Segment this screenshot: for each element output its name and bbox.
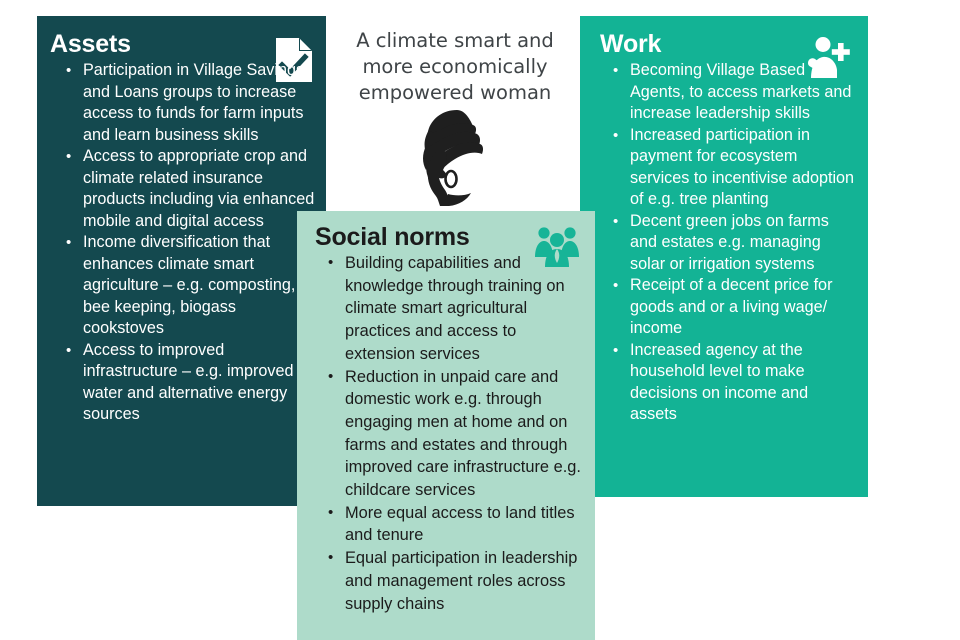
- list-item: Equal participation in leadership and ma…: [327, 547, 583, 615]
- list-item: Decent green jobs on farms and estates e…: [612, 211, 858, 276]
- list-item: Increased participation in payment for e…: [612, 125, 858, 211]
- panel-work-bullets: Becoming Village Based Agents, to access…: [580, 58, 868, 426]
- panel-assets: Assets Participation in Village Savings …: [37, 16, 326, 506]
- woman-head-wrap-silhouette-icon: [407, 108, 503, 206]
- panel-work: Work Becoming Village Based Agents, to a…: [580, 16, 868, 497]
- panel-assets-bullets: Participation in Village Savings and Loa…: [37, 58, 326, 426]
- list-item: Increased agency at the household level …: [612, 340, 858, 426]
- list-item: Access to appropriate crop and climate r…: [65, 146, 318, 232]
- list-item: Access to improved infrastructure – e.g.…: [65, 340, 318, 426]
- list-item: Participation in Village Savings and Loa…: [65, 60, 318, 146]
- infographic-canvas: A climate smart and more economically em…: [0, 0, 960, 640]
- panel-social-norms: Social norms Building capabilities and k…: [297, 211, 595, 640]
- panel-social-norms-bullets: Building capabilities and knowledge thro…: [297, 251, 595, 615]
- center-caption: A climate smart and more economically em…: [330, 16, 580, 106]
- center-column: A climate smart and more economically em…: [330, 16, 580, 211]
- list-item: More equal access to land titles and ten…: [327, 502, 583, 547]
- list-item: Building capabilities and knowledge thro…: [327, 252, 583, 366]
- list-item: Income diversification that enhances cli…: [65, 232, 318, 340]
- list-item: Becoming Village Based Agents, to access…: [612, 60, 858, 125]
- list-item: Reduction in unpaid care and domestic wo…: [327, 366, 583, 502]
- list-item: Receipt of a decent price for goods and …: [612, 275, 858, 340]
